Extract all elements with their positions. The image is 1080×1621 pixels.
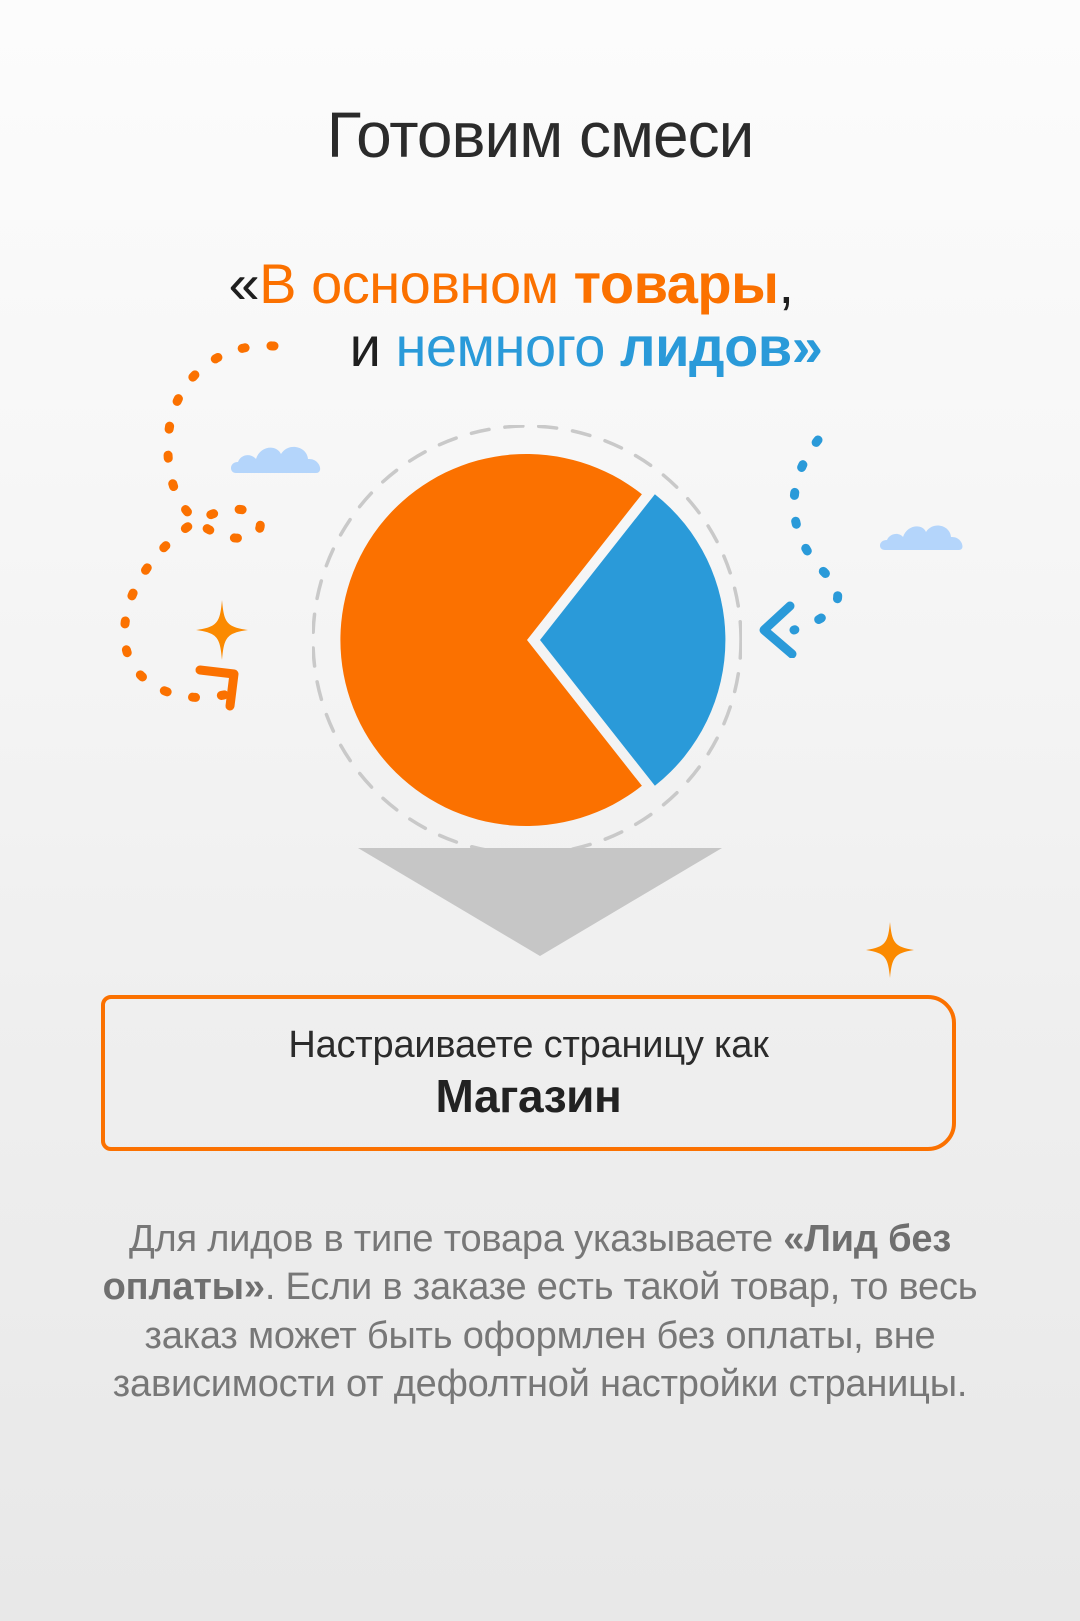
cloud-icon — [878, 520, 968, 559]
infographic-canvas: Готовим смеси «В основном товары, и немн… — [0, 0, 1080, 1621]
cloud-shape — [231, 447, 320, 473]
footnote-paragraph: Для лидов в типе товара указываете «Лид … — [60, 1215, 1020, 1408]
cloud-left-svg — [228, 440, 326, 478]
cloud-shape — [880, 526, 963, 550]
quote-open-mark: « — [229, 252, 260, 315]
sparkle-bottom-svg — [866, 922, 914, 978]
quote-line1-regular: В основном — [259, 252, 574, 315]
curly-dashed-arrow-icon — [96, 330, 316, 725]
sparkle-shape — [196, 600, 248, 660]
footnote-part1: Для лидов в типе товара указываете — [129, 1218, 783, 1260]
triangle-down-shape — [358, 848, 722, 956]
quote-line2-dark: и — [350, 315, 396, 378]
quote-line2-bold: лидов — [620, 315, 792, 378]
page-title: Готовим смеси — [0, 103, 1080, 167]
sparkle-icon — [866, 922, 914, 983]
pie-chart — [312, 425, 742, 855]
callout-subtitle: Настраиваете страницу как — [288, 1024, 768, 1067]
quote-line1-bold: товары — [574, 252, 779, 315]
callout-title: Магазин — [436, 1069, 622, 1123]
cloud-right-svg — [878, 520, 968, 554]
curved-arrow-head — [764, 606, 792, 654]
pie-chart-svg — [312, 425, 742, 855]
curly-arrow-head — [200, 670, 234, 706]
quote-block: «В основном товары, и немного лидов» — [0, 252, 1080, 379]
curved-arrow-path — [794, 440, 838, 630]
sparkle-shape — [866, 922, 914, 978]
quote-line-2: и немного лидов» — [0, 315, 1080, 378]
triangle-down-svg — [358, 848, 722, 956]
sparkle-icon — [196, 600, 248, 665]
quote-line2-regular: немного — [395, 315, 620, 378]
quote-line1-comma: , — [778, 252, 793, 315]
callout-box: Настраиваете страницу как Магазин — [101, 995, 956, 1151]
cloud-icon — [228, 440, 326, 483]
triangle-down-icon — [358, 848, 722, 961]
quote-close-mark: » — [792, 315, 823, 378]
quote-line-1: «В основном товары, — [0, 252, 1080, 315]
sparkle-left-svg — [196, 600, 248, 660]
